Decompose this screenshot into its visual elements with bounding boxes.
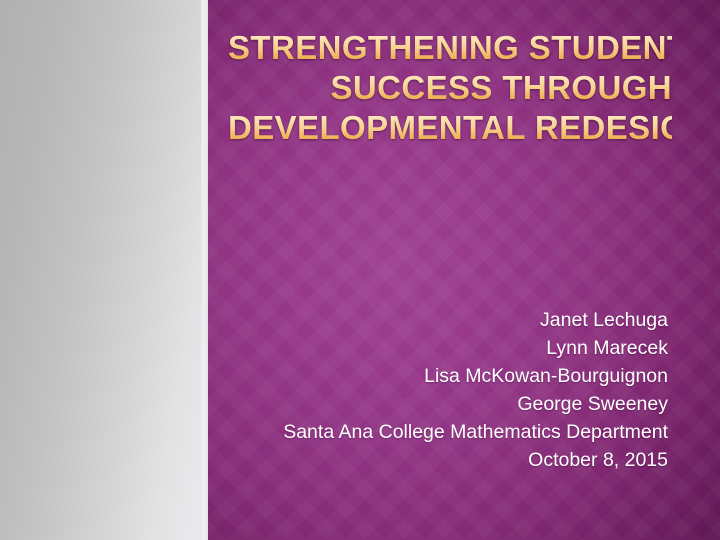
title-line-2: SUCCESS THROUGH <box>228 68 672 108</box>
organization-label: Santa Ana College Mathematics Department <box>240 418 668 446</box>
author-name-2: Lynn Marecek <box>240 334 668 362</box>
slide-subtitle: Janet Lechuga Lynn Marecek Lisa McKowan-… <box>240 306 668 474</box>
slide-title: STRENGTHENING STUDENT SUCCESS THROUGH DE… <box>228 28 672 148</box>
author-name-4: George Sweeney <box>240 390 668 418</box>
left-gradient-band <box>0 0 206 540</box>
title-line-3: DEVELOPMENTAL REDESIGN <box>228 108 672 148</box>
author-name-3: Lisa McKowan-Bourguignon <box>240 362 668 390</box>
band-edge-divider <box>201 0 208 540</box>
author-name-1: Janet Lechuga <box>240 306 668 334</box>
presentation-date: October 8, 2015 <box>240 446 668 474</box>
presentation-slide: STRENGTHENING STUDENT SUCCESS THROUGH DE… <box>0 0 720 540</box>
title-line-1: STRENGTHENING STUDENT <box>228 28 672 68</box>
